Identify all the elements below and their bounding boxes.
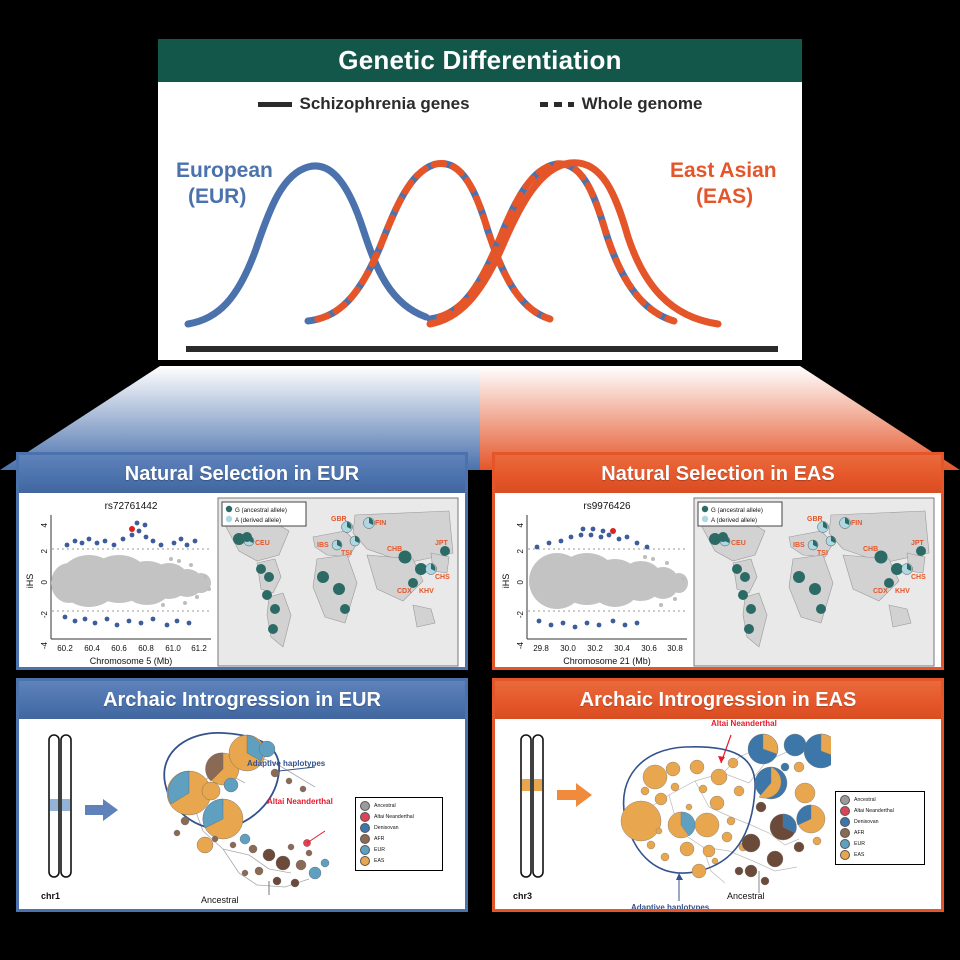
solid-line-icon [258, 102, 292, 107]
legend-swatch-afr [360, 834, 370, 844]
legend-label: G (ancestral allele) [235, 507, 287, 514]
legend-swatch-eas [840, 850, 850, 860]
panel-title: Archaic Introgression in EAS [580, 689, 857, 712]
genetic-differentiation-panel: Genetic Differentiation Schizophrenia ge… [157, 38, 803, 361]
legend-row: AFR [840, 828, 920, 838]
annotation-ancestral: Ancestral [727, 891, 765, 901]
highlighted-snp [610, 528, 616, 534]
legend-label: Schizophrenia genes [300, 94, 470, 114]
legend-label: Altai Neanderthal [374, 813, 414, 821]
ytick: -2 [516, 610, 525, 618]
map-legend: G (ancestral allele) A (derived allele) [222, 502, 306, 526]
legend-label: EAS [854, 851, 864, 859]
pop-label: KHV [895, 588, 910, 595]
panel-title-bar: Genetic Differentiation [158, 39, 802, 82]
legend-swatch-afr [840, 828, 850, 838]
legend-label: EAS [374, 857, 384, 865]
pop-label: TSI [817, 550, 828, 557]
highlighted-snp [129, 526, 135, 532]
ytick: 0 [40, 579, 49, 584]
legend-row: Altai Neanderthal [840, 806, 920, 816]
pop-label: IBS [793, 542, 805, 549]
panel-natural-selection-eur: Natural Selection in EUR rs72761442 -4 -… [16, 452, 468, 670]
pop-label: CDX [873, 588, 888, 595]
label-eastasian-line2: (EAS) [696, 185, 753, 208]
panel-archaic-introgression-eur: Archaic Introgression in EUR chr1 [16, 678, 468, 912]
legend-label: Ancestral [854, 796, 876, 804]
panel-natural-selection-eas: Natural Selection in EAS rs9976426 -4 -2… [492, 452, 944, 670]
allele-frequency-map-eas: G (ancestral allele) A (derived allele) [693, 493, 941, 667]
legend-item-schizophrenia: Schizophrenia genes [258, 94, 470, 114]
figure-canvas: Genetic Differentiation Schizophrenia ge… [0, 0, 960, 960]
legend-swatch-ancestral [360, 801, 370, 811]
allele-frequency-map-eur: G (ancestral allele) A (derived allele) [217, 493, 465, 667]
pop-label: TSI [341, 550, 352, 557]
legend-row: Ancestral [840, 795, 920, 805]
xtick: 30.8 [667, 644, 683, 653]
pop-label: CHB [863, 546, 878, 553]
page-title: Genetic Differentiation [338, 45, 621, 76]
ytick: -4 [40, 641, 49, 649]
panel-body: chr1 [19, 719, 465, 909]
xtick: 29.8 [533, 644, 549, 653]
panel-body: rs9976426 -4 -2 0 2 4 iHS [495, 493, 941, 667]
panel-header: Archaic Introgression in EUR [19, 681, 465, 719]
xtick: 60.4 [84, 644, 100, 653]
xtick: 30.2 [587, 644, 603, 653]
arrow-icon [85, 797, 119, 823]
legend-swatch-eur [360, 845, 370, 855]
legend-label: EUR [374, 846, 385, 854]
label-eastasian-line1: East Asian [670, 159, 777, 182]
legend-swatch-eur [840, 839, 850, 849]
arrow-icon [557, 781, 593, 809]
pop-label: IBS [317, 542, 329, 549]
pop-label: FIN [375, 520, 386, 527]
xtick: 61.0 [165, 644, 181, 653]
map-legend: G (ancestral allele) A (derived allele) [698, 502, 782, 526]
ytick: -2 [40, 610, 49, 618]
chromosome-label: chr1 [41, 891, 60, 901]
panel-archaic-introgression-eas: Archaic Introgression in EAS chr3 [492, 678, 944, 912]
annotation-adaptive-haplotypes: Adaptive haplotypes [247, 759, 325, 768]
panel-header: Natural Selection in EAS [495, 455, 941, 493]
legend-row: AFR [360, 834, 438, 844]
network-legend-eur: Ancestral Altai Neanderthal Denisovan AF… [355, 797, 443, 871]
pop-label: CEU [255, 540, 270, 547]
legend-label: G (ancestral allele) [711, 507, 763, 514]
pop-label: GBR [807, 516, 823, 523]
ytick: 0 [516, 579, 525, 584]
ytick: 2 [516, 548, 525, 553]
legend-label: Denisovan [854, 818, 879, 826]
pop-label: CEU [731, 540, 746, 547]
ytick: -4 [516, 641, 525, 649]
curve-legend: Schizophrenia genes Whole genome [158, 87, 802, 121]
distribution-curves: European (EUR) East Asian (EAS) [158, 119, 804, 359]
x-axis-label: Chromosome 5 (Mb) [90, 656, 173, 666]
pop-label: CHS [911, 574, 926, 581]
legend-label: Whole genome [582, 94, 703, 114]
legend-row: Ancestral [360, 801, 438, 811]
snp-label: rs72761442 [105, 501, 158, 512]
xtick: 30.6 [641, 644, 657, 653]
annotation-ancestral: Ancestral [201, 895, 239, 905]
xtick: 61.2 [191, 644, 207, 653]
pop-label: JPT [911, 540, 925, 547]
xtick: 60.2 [57, 644, 73, 653]
legend-row: EAS [840, 850, 920, 860]
pop-label: CHS [435, 574, 450, 581]
snp-label: rs9976426 [583, 501, 631, 512]
annotation-altai-neanderthal: Altai Neanderthal [711, 719, 777, 728]
legend-swatch-denisovan [840, 817, 850, 827]
legend-row: Denisovan [840, 817, 920, 827]
legend-label: A (derived allele) [235, 517, 281, 524]
haplotype-network-eas [599, 721, 831, 909]
pop-label: JPT [435, 540, 449, 547]
panel-body: rs72761442 -4 -2 0 2 4 iHS [19, 493, 465, 667]
panel-body: chr3 [495, 719, 941, 909]
chromosome-label: chr3 [513, 891, 532, 901]
legend-label: AFR [854, 829, 864, 837]
legend-label: A (derived allele) [711, 517, 757, 524]
y-axis-label: iHS [25, 574, 35, 589]
legend-label: Altai Neanderthal [854, 807, 894, 815]
legend-row: EUR [840, 839, 920, 849]
pop-label: CHB [387, 546, 402, 553]
pop-label: CDX [397, 588, 412, 595]
chromosome-ideogram-eas [509, 729, 555, 889]
legend-row: Altai Neanderthal [360, 812, 438, 822]
ihs-scatter-eur: rs72761442 -4 -2 0 2 4 iHS [19, 493, 217, 667]
pop-label: GBR [331, 516, 347, 523]
panel-title: Natural Selection in EAS [601, 463, 834, 486]
legend-swatch-ancestral [840, 795, 850, 805]
network-legend-eas: Ancestral Altai Neanderthal Denisovan AF… [835, 791, 925, 865]
legend-swatch-altai [360, 812, 370, 822]
label-european-line1: European [176, 159, 273, 182]
legend-label: EUR [854, 840, 865, 848]
legend-item-whole-genome: Whole genome [540, 94, 703, 114]
haplotype-network-eur [119, 723, 345, 909]
xtick: 30.4 [614, 644, 630, 653]
legend-row: EUR [360, 845, 438, 855]
chromosome-ideogram-eur [37, 729, 83, 889]
y-axis-label: iHS [501, 574, 511, 589]
xtick: 60.8 [138, 644, 154, 653]
legend-label: Ancestral [374, 802, 396, 810]
ytick: 4 [40, 522, 49, 527]
panel-title: Archaic Introgression in EUR [103, 689, 381, 712]
dashed-line-icon [540, 102, 574, 107]
x-axis-label: Chromosome 21 (Mb) [563, 656, 651, 666]
pop-label: FIN [851, 520, 862, 527]
legend-label: Denisovan [374, 824, 399, 832]
legend-swatch-eas [360, 856, 370, 866]
legend-swatch-denisovan [360, 823, 370, 833]
xtick: 60.6 [111, 644, 127, 653]
annotation-adaptive-haplotypes: Adaptive haplotypes [631, 903, 709, 909]
panel-header: Archaic Introgression in EAS [495, 681, 941, 719]
legend-label: AFR [374, 835, 384, 843]
xtick: 30.0 [560, 644, 576, 653]
legend-row: Denisovan [360, 823, 438, 833]
panel-title: Natural Selection in EUR [125, 463, 360, 486]
ihs-scatter-eas: rs9976426 -4 -2 0 2 4 iHS [495, 493, 693, 667]
ytick: 2 [40, 548, 49, 553]
ytick: 4 [516, 522, 525, 527]
legend-row: EAS [360, 856, 438, 866]
legend-swatch-altai [840, 806, 850, 816]
annotation-altai-neanderthal: Altai Neanderthal [267, 797, 333, 806]
label-european-line2: (EUR) [188, 185, 246, 208]
panel-header: Natural Selection in EUR [19, 455, 465, 493]
pop-label: KHV [419, 588, 434, 595]
